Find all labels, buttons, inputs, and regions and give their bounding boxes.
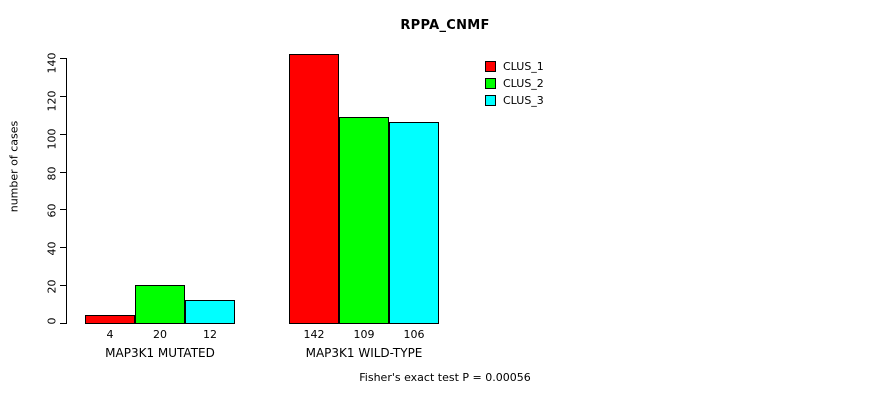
y-axis-tick-label: 140 [47, 53, 58, 81]
y-axis-line [66, 58, 67, 324]
y-axis-tick-label-wrap: 120 [22, 90, 52, 102]
y-axis-tick-label-wrap: 40 [22, 241, 52, 253]
legend-color-swatch [485, 95, 496, 106]
bar-value-label: 109 [339, 328, 389, 341]
y-axis-tick [60, 134, 66, 135]
statistical-annotation: Fisher's exact test P = 0.00056 [0, 371, 890, 384]
y-axis-tick-label: 100 [47, 128, 58, 156]
y-axis-tick-label-wrap: 60 [22, 203, 52, 215]
y-axis-tick [60, 323, 66, 324]
y-axis-tick-label: 80 [47, 166, 58, 194]
y-axis-tick [60, 209, 66, 210]
y-axis-tick-label-wrap: 0 [22, 317, 52, 329]
bar [85, 315, 135, 324]
bar [339, 117, 389, 324]
y-axis-tick-label: 0 [47, 318, 58, 346]
bar-value-label: 4 [85, 328, 135, 341]
bar [135, 285, 185, 324]
page-title: RPPA_CNMF [0, 18, 890, 33]
bar-value-label: 106 [389, 328, 439, 341]
y-axis-tick [60, 58, 66, 59]
y-axis-tick [60, 96, 66, 97]
bar-value-label: 12 [185, 328, 235, 341]
y-axis-tick-label: 40 [47, 242, 58, 270]
group-label: MAP3K1 WILD-TYPE [244, 346, 484, 360]
legend-color-swatch [485, 78, 496, 89]
legend-item: CLUS_2 [485, 75, 544, 92]
y-axis-tick-label-wrap: 80 [22, 166, 52, 178]
chart-canvas: RPPA_CNMF 020406080100120140 number of c… [0, 0, 890, 400]
bar [389, 122, 439, 324]
legend-item: CLUS_3 [485, 92, 544, 109]
bar-value-label: 20 [135, 328, 185, 341]
legend-color-swatch [485, 61, 496, 72]
legend: CLUS_1CLUS_2CLUS_3 [485, 58, 544, 109]
y-axis-tick-label: 120 [47, 90, 58, 118]
bar [289, 54, 339, 324]
y-axis-tick [60, 285, 66, 286]
y-axis-tick-label-wrap: 100 [22, 128, 52, 140]
y-axis-tick [60, 172, 66, 173]
y-axis-tick [60, 247, 66, 248]
legend-item: CLUS_1 [485, 58, 544, 75]
y-axis-tick-label-wrap: 20 [22, 279, 52, 291]
y-axis-tick-label: 60 [47, 204, 58, 232]
y-axis-label: number of cases [8, 107, 21, 227]
bar-value-label: 142 [289, 328, 339, 341]
legend-item-label: CLUS_2 [503, 78, 544, 89]
y-axis-tick-label-wrap: 140 [22, 52, 52, 64]
y-axis-tick-label: 20 [47, 280, 58, 308]
bar [185, 300, 235, 324]
legend-item-label: CLUS_3 [503, 95, 544, 106]
legend-item-label: CLUS_1 [503, 61, 544, 72]
